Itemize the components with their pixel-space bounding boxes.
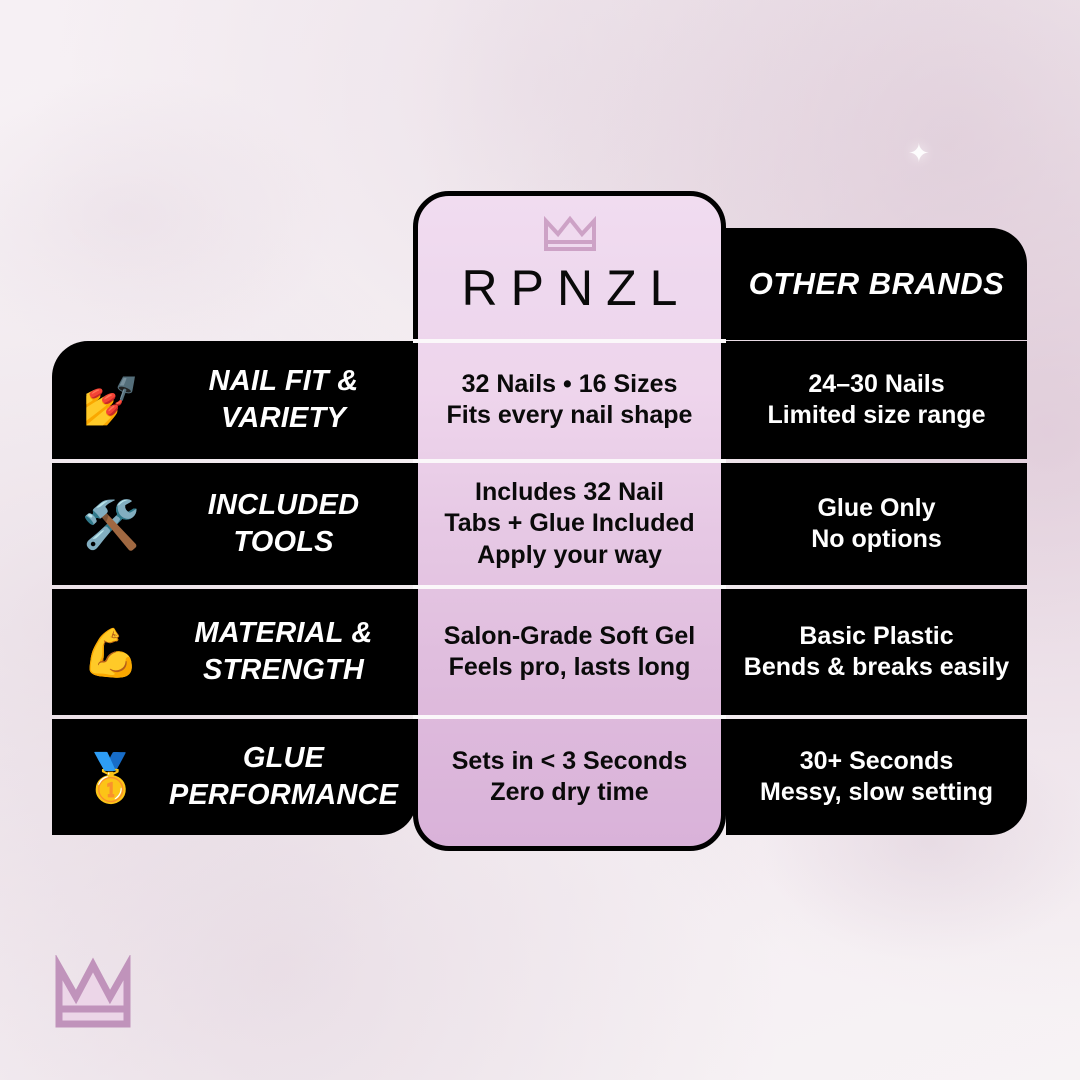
competitor-cell-text: Glue Only No options xyxy=(811,493,942,556)
competitor-cell-text: 30+ Seconds Messy, slow setting xyxy=(760,746,993,809)
row-category-label: INCLUDED TOOLS xyxy=(160,487,417,561)
competitor-cell: Glue Only No options xyxy=(726,463,1027,585)
row-category-label-line: STRENGTH xyxy=(160,652,407,689)
row-category-label: NAIL FIT & VARIETY xyxy=(160,363,417,437)
column-divider xyxy=(413,459,726,463)
rpnzl-brand-header: RPNZL xyxy=(413,191,726,339)
competitor-column-header-label: OTHER BRANDS xyxy=(749,266,1005,302)
row-category-label-line: INCLUDED xyxy=(160,487,407,524)
competitor-cell-line: Limited size range xyxy=(767,400,985,432)
competitor-cell-line: Messy, slow setting xyxy=(760,777,993,809)
row-category-label-line: TOOLS xyxy=(160,524,407,561)
row-category-cell: 🥇 GLUE PERFORMANCE xyxy=(52,719,417,835)
crown-icon xyxy=(542,213,598,253)
competitor-cell-line: 24–30 Nails xyxy=(767,369,985,401)
crown-logo-icon xyxy=(52,955,134,1031)
rpnzl-brand-name: RPNZL xyxy=(449,259,691,317)
row-category-label: GLUE PERFORMANCE xyxy=(160,740,417,814)
competitor-cell: 30+ Seconds Messy, slow setting xyxy=(726,719,1027,835)
first-place-medal-emoji: 🥇 xyxy=(68,754,154,801)
row-category-label: MATERIAL & STRENGTH xyxy=(160,615,417,689)
row-category-label-line: GLUE xyxy=(160,740,407,777)
competitor-cell-text: Basic Plastic Bends & breaks easily xyxy=(744,621,1009,684)
row-category-cell: 🛠️ INCLUDED TOOLS xyxy=(52,463,417,585)
comparison-table: 💅 NAIL FIT & VARIETY 24–30 Nails Limited… xyxy=(0,0,1080,1080)
row-category-label-line: MATERIAL & xyxy=(160,615,407,652)
column-divider xyxy=(413,339,726,343)
competitor-cell-line: No options xyxy=(811,524,942,556)
row-category-label-line: PERFORMANCE xyxy=(160,777,407,814)
competitor-column-header: OTHER BRANDS xyxy=(726,228,1027,340)
row-category-cell: 💅 NAIL FIT & VARIETY xyxy=(52,341,417,459)
competitor-cell-line: Basic Plastic xyxy=(744,621,1009,653)
competitor-cell: 24–30 Nails Limited size range xyxy=(726,341,1027,459)
competitor-cell-line: Glue Only xyxy=(811,493,942,525)
row-category-label-line: VARIETY xyxy=(160,400,407,437)
row-category-label-line: NAIL FIT & xyxy=(160,363,407,400)
row-category-cell: 💪 MATERIAL & STRENGTH xyxy=(52,589,417,715)
hammer-and-wrench-emoji: 🛠️ xyxy=(68,501,154,548)
column-divider xyxy=(413,715,726,719)
competitor-cell: Basic Plastic Bends & breaks easily xyxy=(726,589,1027,715)
competitor-cell-line: 30+ Seconds xyxy=(760,746,993,778)
competitor-cell-text: 24–30 Nails Limited size range xyxy=(767,369,985,432)
nail-polish-emoji: 💅 xyxy=(68,377,154,424)
column-divider xyxy=(413,585,726,589)
flexed-biceps-emoji: 💪 xyxy=(68,629,154,676)
competitor-cell-line: Bends & breaks easily xyxy=(744,652,1009,684)
